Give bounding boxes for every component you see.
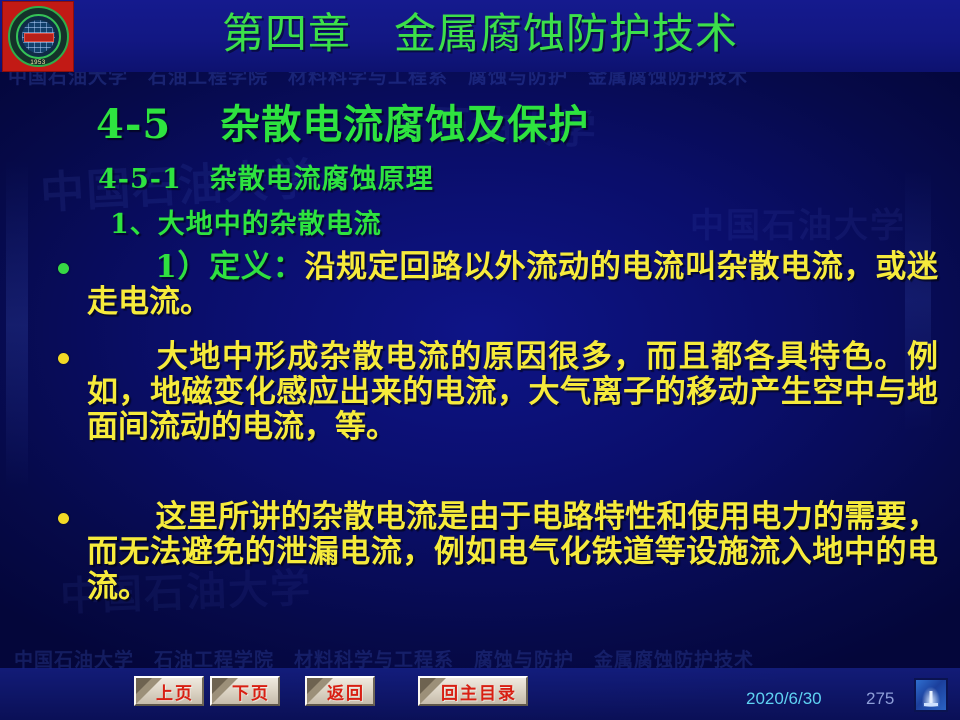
emblem-base [924, 703, 938, 706]
slide-page-number: 275 [866, 689, 894, 709]
section-heading: 4-5 杂散电流腐蚀及保护 [96, 92, 589, 150]
bullet-body-text: 大地中形成杂散电流的原因很多，而且都各具特色。例如，地磁变化感应出来的电流，大气… [87, 339, 938, 445]
section-number: 4-5 [96, 101, 171, 148]
main-menu-button-label: 回主目录 [429, 679, 517, 704]
prev-page-button[interactable]: 上页 [134, 676, 204, 706]
bullet-text: 大地中形成杂散电流的原因很多，而且都各具特色。例如，地磁变化感应出来的电流，大气… [69, 340, 938, 445]
bullet-lead-label: 1）定义： [155, 249, 304, 285]
bullet-item: 大地中形成杂散电流的原因很多，而且都各具特色。例如，地磁变化感应出来的电流，大气… [58, 340, 938, 445]
next-page-button[interactable]: 下页 [210, 676, 280, 706]
bullet-marker-icon [58, 263, 69, 274]
next-page-button-label: 下页 [220, 679, 270, 704]
slide-content: 4-5 杂散电流腐蚀及保护 4-5-1 杂散电流腐蚀原理 1、大地中的杂散电流 … [0, 72, 960, 642]
bullet-marker-icon [58, 353, 69, 364]
subsection-heading: 4-5-1 杂散电流腐蚀原理 [98, 157, 434, 196]
prev-page-button-label: 上页 [144, 679, 194, 704]
bullet-text: 这里所讲的杂散电流是由于电路特性和使用电力的需要，而无法避免的泄漏电流，例如电气… [69, 500, 938, 605]
bullet-body-text: 这里所讲的杂散电流是由于电路特性和使用电力的需要，而无法避免的泄漏电流，例如电气… [87, 499, 938, 605]
bullet-text: 1）定义：沿规定回路以外流动的电流叫杂散电流，或迷走电流。 [69, 250, 938, 320]
back-button[interactable]: 返回 [305, 676, 375, 706]
section-title: 杂散电流腐蚀及保护 [220, 101, 589, 148]
item-heading: 1、大地中的杂散电流 [110, 202, 382, 241]
slide-date: 2020/6/30 [746, 689, 822, 709]
bullet-item: 1）定义：沿规定回路以外流动的电流叫杂散电流，或迷走电流。 [58, 250, 938, 320]
bullet-marker-icon [58, 513, 69, 524]
back-button-label: 返回 [315, 679, 365, 704]
blue-lamp-emblem-icon [914, 678, 948, 712]
main-menu-button[interactable]: 回主目录 [418, 676, 528, 706]
chapter-title: 第四章 金属腐蚀防护技术 [0, 6, 960, 62]
presentation-slide: 中国石油大学 石油大学 中国石油大学 中国石油大学 中国石油大学 石油工程学院 … [0, 0, 960, 720]
bullet-item: 这里所讲的杂散电流是由于电路特性和使用电力的需要，而无法避免的泄漏电流，例如电气… [58, 500, 938, 605]
